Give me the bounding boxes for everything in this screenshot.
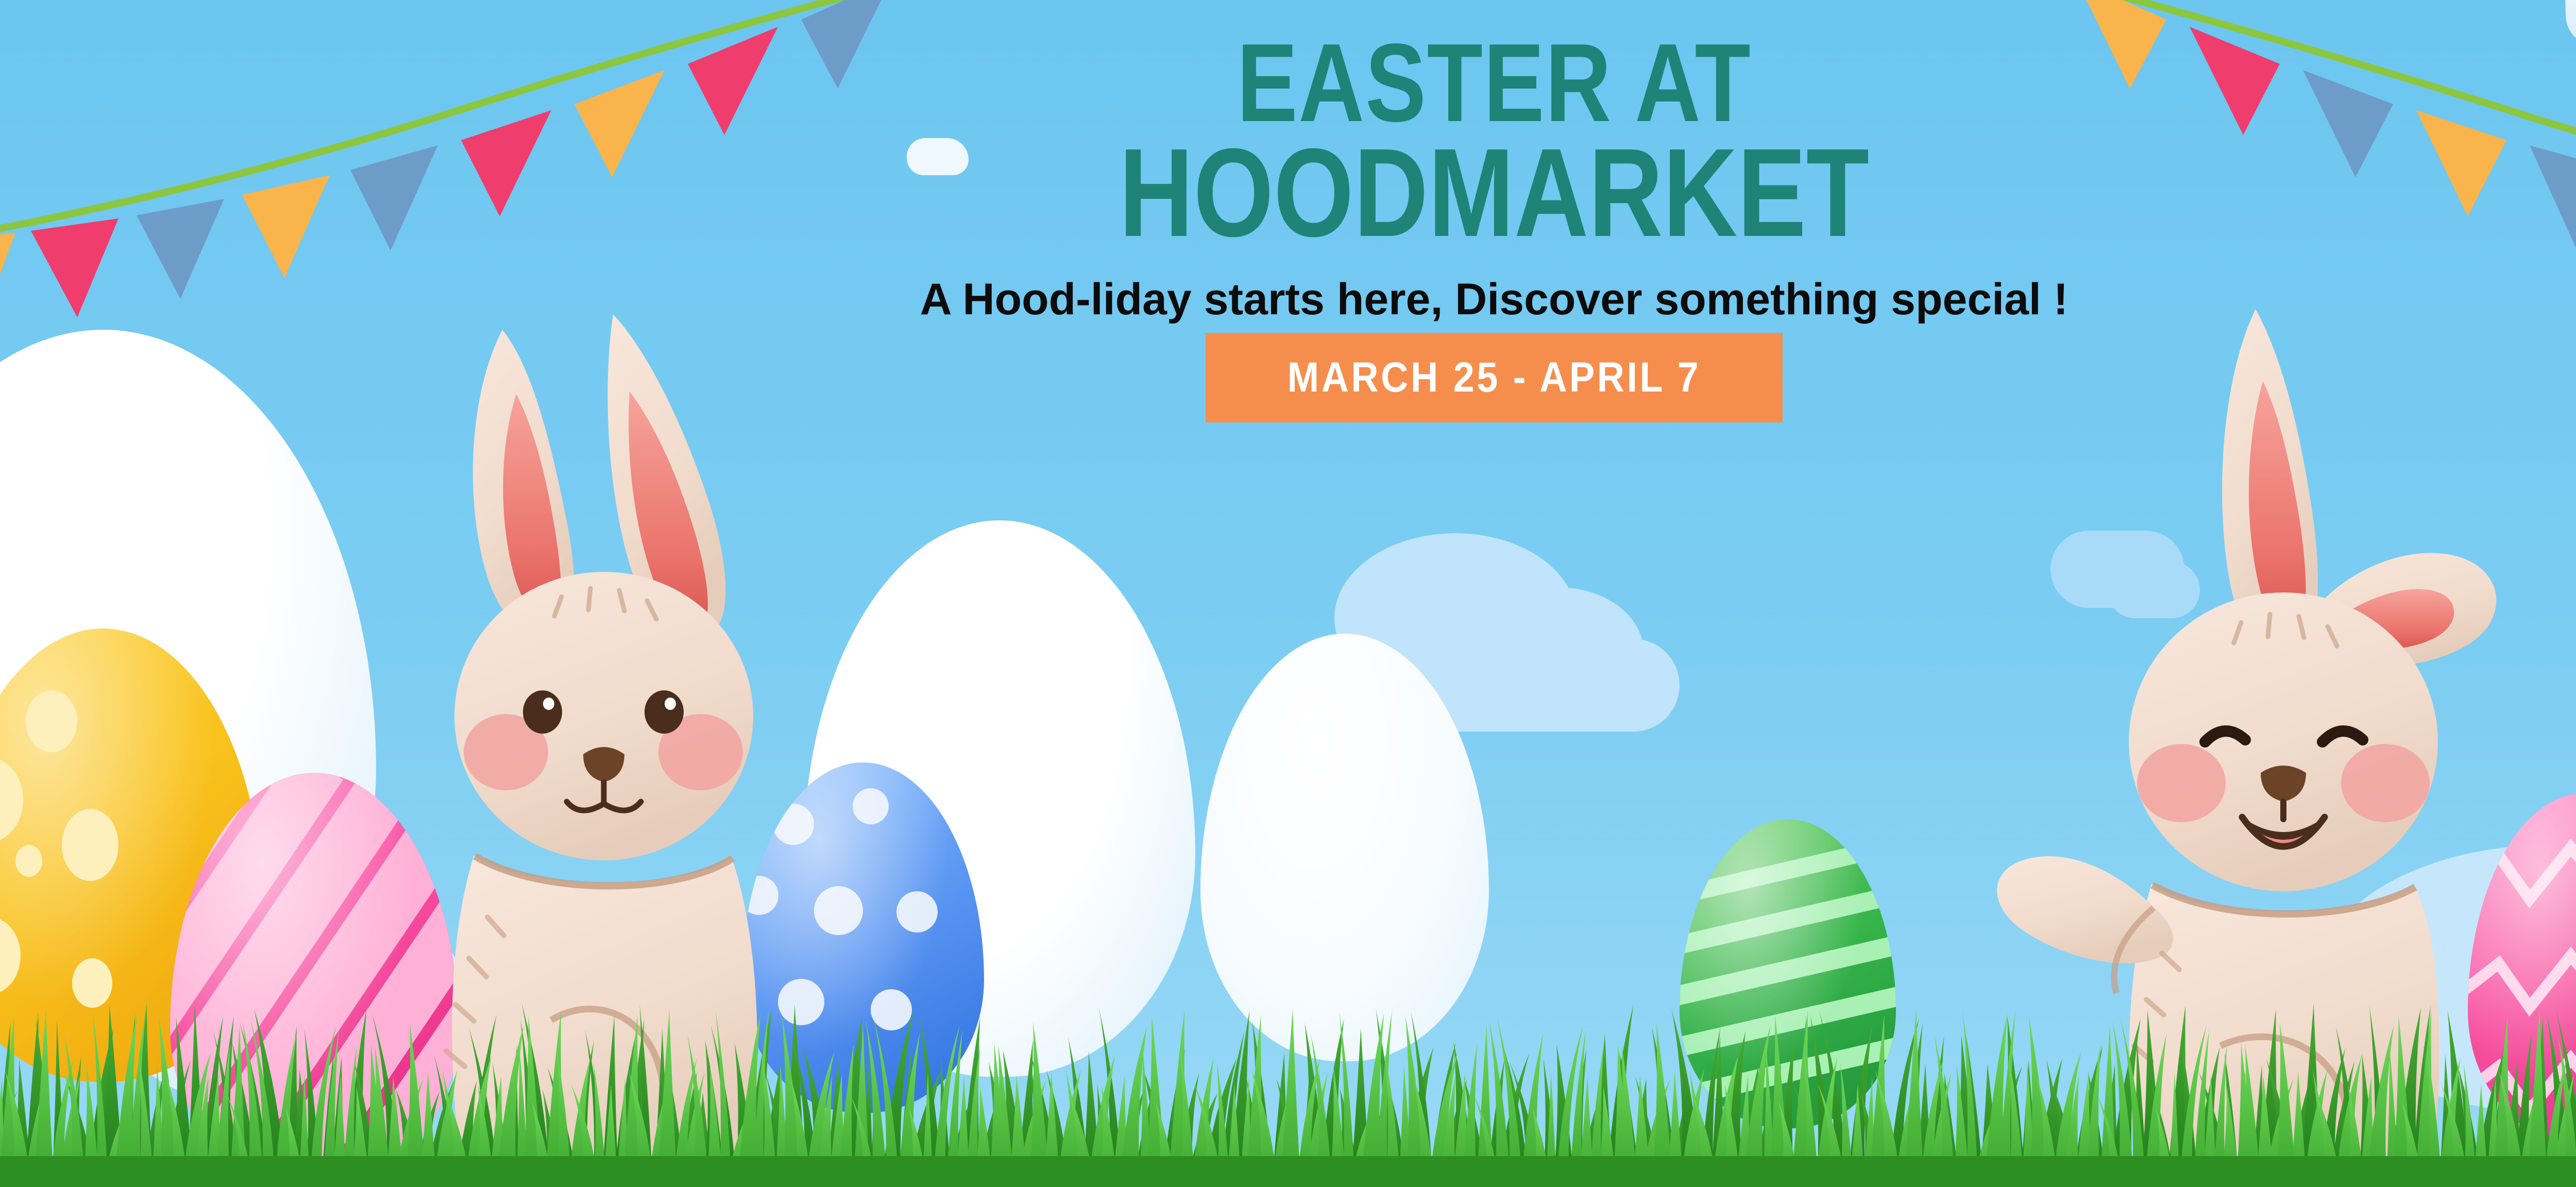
date-range-label: MARCH 25 - APRIL 7 [1261,346,1727,409]
page-title: EASTER AT HOODMARKET [966,31,2022,251]
date-badge: MARCH 25 - APRIL 7 [1235,346,1753,409]
banner-content: EASTER AT HOODMARKET A Hood-liday starts… [850,31,2138,409]
easter-banner: EASTER AT HOODMARKET A Hood-liday starts… [0,0,2576,1187]
headline-line-2: HOODMARKET [966,134,2022,251]
banner-subtitle: A Hood-liday starts here, Discover somet… [850,271,2138,328]
